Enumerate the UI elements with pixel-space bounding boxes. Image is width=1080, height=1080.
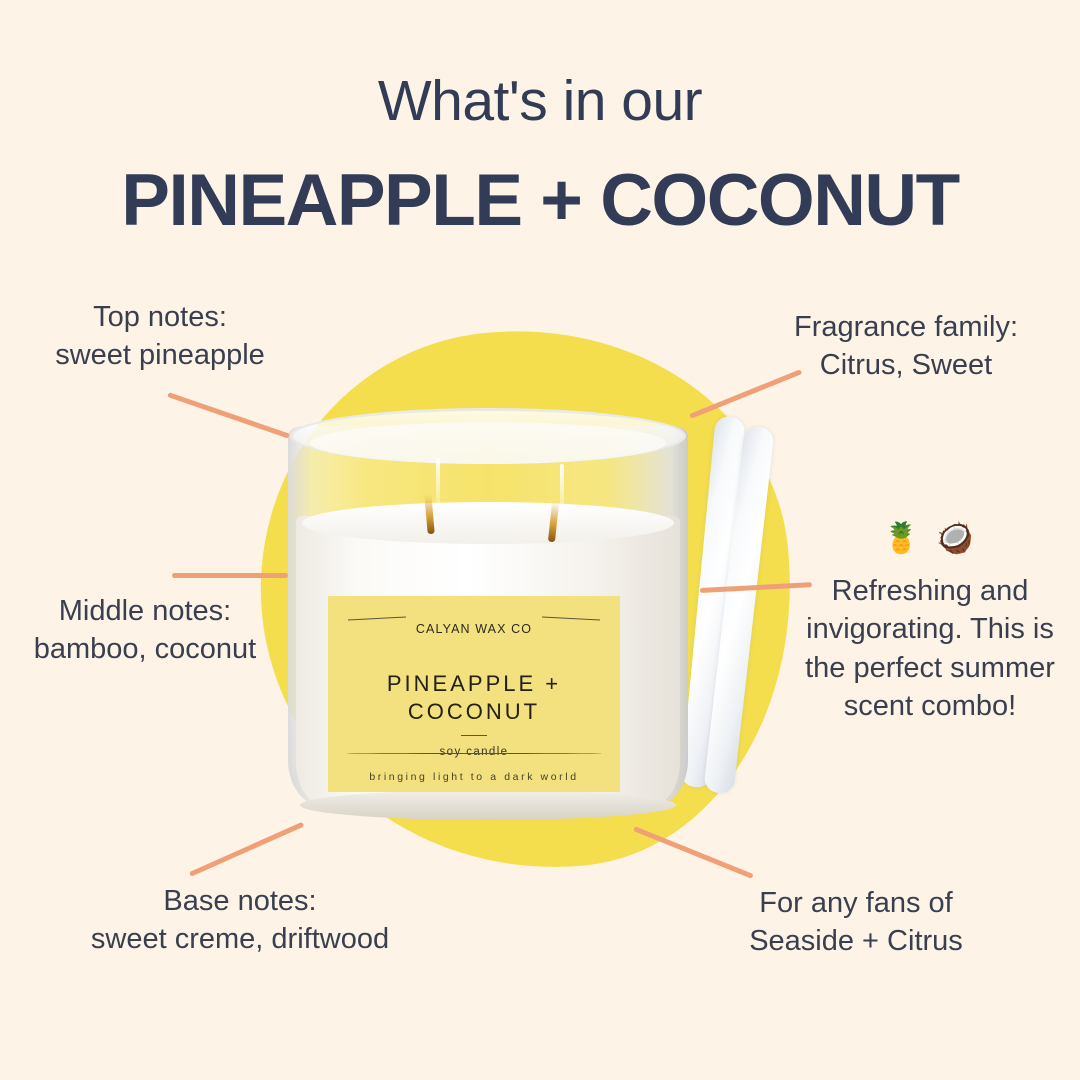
- connector-line-fans-of: [633, 826, 754, 879]
- wick-highlight-2: [560, 464, 564, 524]
- label-mini-rule: [461, 735, 487, 736]
- annotation-description-line-3: the perfect summer: [805, 652, 1055, 684]
- annotation-base-notes-line-2: sweet creme, driftwood: [91, 923, 389, 955]
- annotation-fragrance-family-line-2: Citrus, Sweet: [820, 349, 992, 381]
- label-rule-left: [348, 616, 406, 620]
- page-subtitle: What's in our: [0, 72, 1080, 132]
- product-label: CALYAN WAX CO PINEAPPLE + COCONUT soy ca…: [328, 596, 620, 792]
- infographic-canvas: What's in our PINEAPPLE + COCONUT CALYAN: [0, 0, 1080, 1080]
- label-tagline-rule: [346, 753, 602, 754]
- annotation-middle-notes-line-1: Middle notes:: [59, 595, 232, 627]
- label-tagline: bringing light to a dark world: [328, 771, 620, 783]
- label-rule-right: [542, 616, 600, 620]
- candle-jar: CALYAN WAX CO PINEAPPLE + COCONUT soy ca…: [288, 398, 688, 830]
- jar-inner-rim: [310, 422, 666, 464]
- label-scent-line-1: PINEAPPLE +: [387, 671, 561, 696]
- pineapple-coconut-emoji: 🍍 🥥: [800, 524, 1060, 554]
- annotation-description-line-1: Refreshing and: [832, 575, 1029, 607]
- annotation-fans-of-line-1: For any fans of: [759, 887, 952, 919]
- jar-base: [300, 790, 676, 820]
- annotation-base-notes-line-1: Base notes:: [163, 885, 316, 917]
- annotation-top-notes: Top notes: sweet pineapple: [20, 298, 300, 375]
- annotation-fans-of-line-2: Seaside + Citrus: [749, 925, 963, 957]
- candle-wax-surface: [302, 502, 674, 544]
- label-brand-name: CALYAN WAX CO: [328, 622, 620, 636]
- page-title: PINEAPPLE + COCONUT: [0, 163, 1080, 240]
- connector-line-top-notes: [167, 392, 290, 438]
- label-candle-type: soy candle: [328, 746, 620, 758]
- taper-candles: [680, 408, 810, 808]
- annotation-fragrance-family: Fragrance family: Citrus, Sweet: [748, 308, 1064, 385]
- annotation-description-line-4: scent combo!: [844, 690, 1016, 722]
- annotation-description-line-2: invigorating. This is: [806, 613, 1054, 645]
- annotation-fragrance-family-line-1: Fragrance family:: [794, 311, 1018, 343]
- annotation-fans-of: For any fans of Seaside + Citrus: [706, 884, 1006, 961]
- annotation-top-notes-line-2: sweet pineapple: [55, 339, 265, 371]
- connector-line-base-notes: [189, 822, 304, 877]
- wick-highlight-1: [436, 458, 440, 518]
- annotation-middle-notes: Middle notes: bamboo, coconut: [0, 592, 290, 669]
- label-scent-name: PINEAPPLE + COCONUT: [328, 670, 620, 726]
- annotation-middle-notes-line-2: bamboo, coconut: [34, 633, 256, 665]
- connector-line-middle-notes: [172, 573, 288, 578]
- annotation-top-notes-line-1: Top notes:: [93, 301, 227, 333]
- label-scent-line-2: COCONUT: [408, 699, 540, 724]
- annotation-description: Refreshing and invigorating. This is the…: [800, 572, 1060, 725]
- annotation-base-notes: Base notes: sweet creme, driftwood: [30, 882, 450, 959]
